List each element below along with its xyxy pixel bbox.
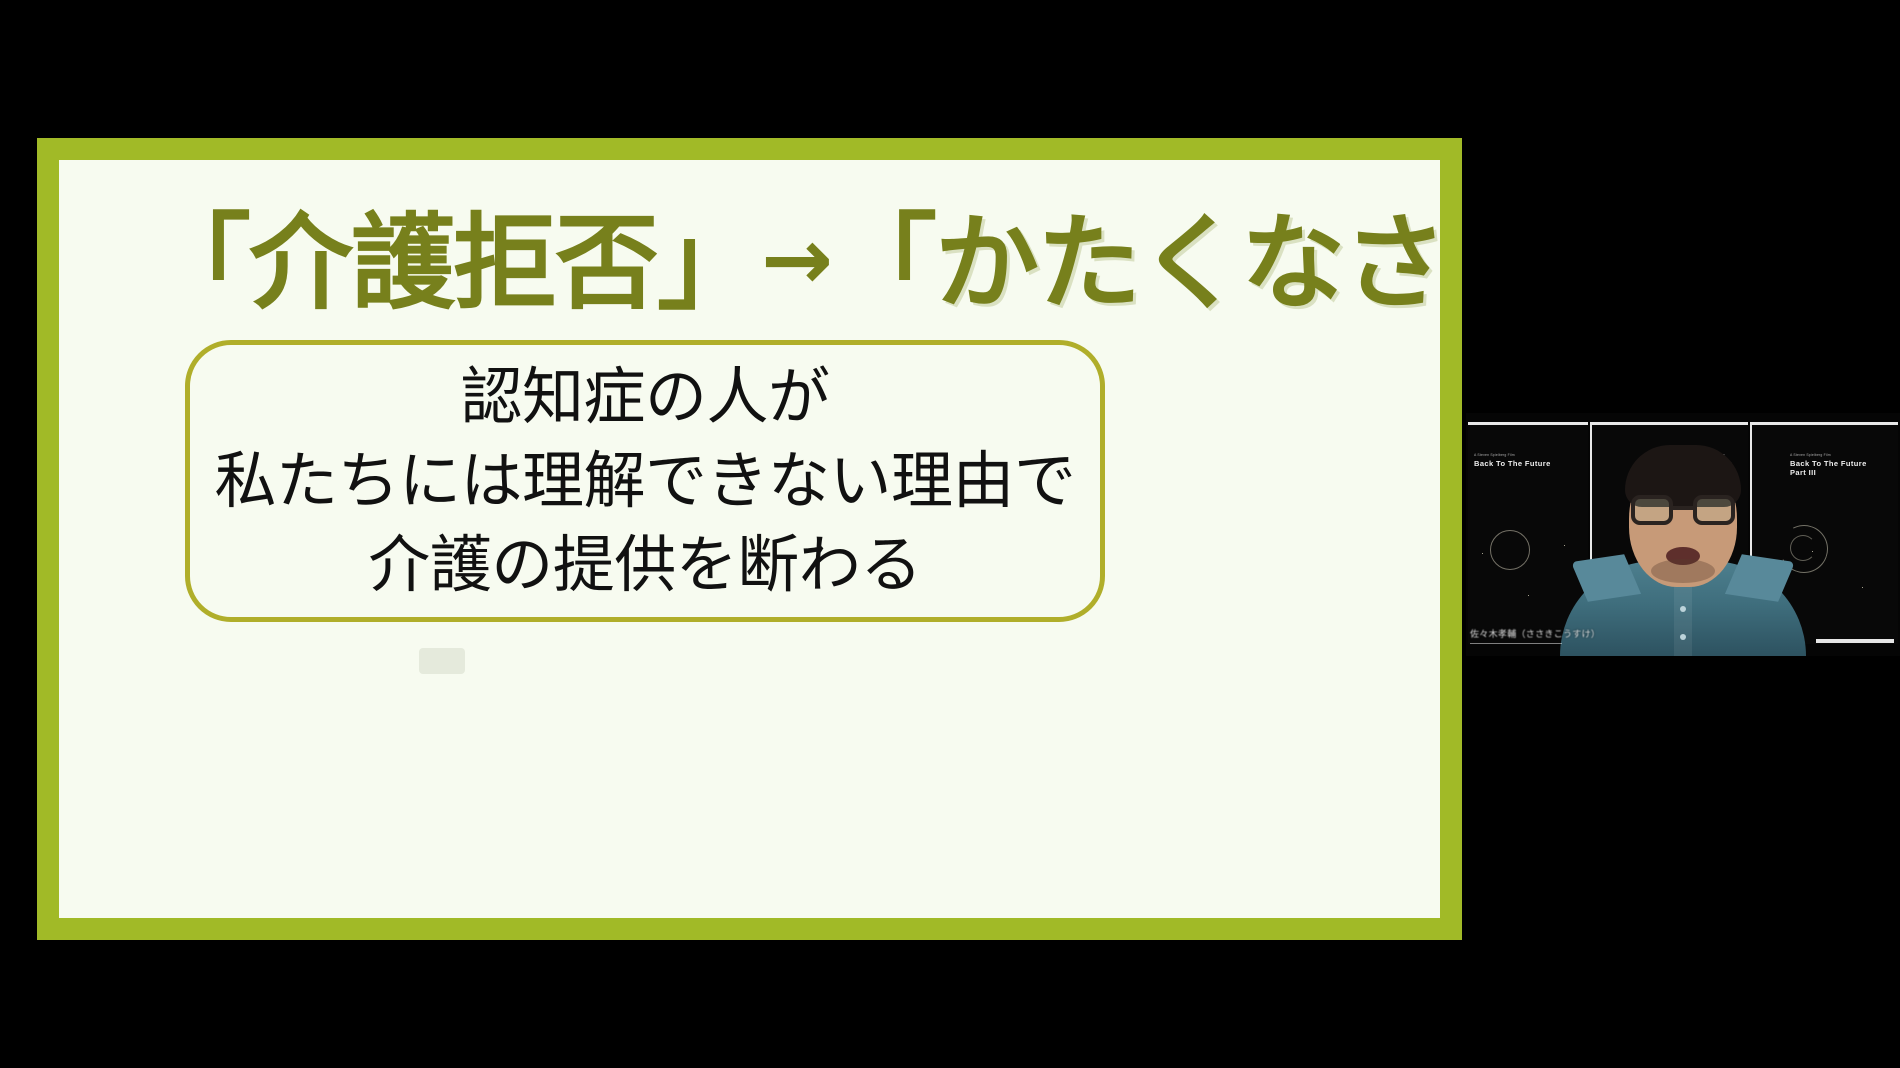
definition-line-2: 私たちには理解できない理由で xyxy=(214,440,1075,522)
title-open-quote: 「 xyxy=(147,202,249,324)
screen-share-viewport: 「介護拒否」→「かたくなさ」 認知症の人が 私たちには理解できない理由で 介護の… xyxy=(0,0,1900,1068)
slide-compression-artifact xyxy=(419,648,465,674)
eyeglasses-icon xyxy=(1631,495,1735,525)
presentation-slide: 「介護拒否」→「かたくなさ」 認知症の人が 私たちには理解できない理由で 介護の… xyxy=(37,138,1462,940)
title-close-quote: 」 xyxy=(657,202,759,324)
title-term-after: かたくなさ xyxy=(935,202,1440,324)
definition-line-3: 介護の提供を断わる xyxy=(368,524,922,606)
title-term-before: 介護拒否 xyxy=(249,202,657,324)
speaker-name-label: 佐々木孝輔（ささきこうすけ） xyxy=(1470,627,1600,640)
definition-line-1: 認知症の人が xyxy=(460,356,829,438)
eyeglass-bridge xyxy=(1673,506,1693,510)
shirt-button xyxy=(1680,634,1686,640)
slide-title: 「介護拒否」→「かたくなさ」 xyxy=(147,202,1440,325)
definition-text: 認知症の人が 私たちには理解できない理由で 介護の提供を断わる xyxy=(190,345,1100,617)
definition-callout-box: 認知症の人が 私たちには理解できない理由で 介護の提供を断わる xyxy=(185,340,1105,622)
presenter-figure xyxy=(1466,413,1900,656)
presenter-chin-shadow xyxy=(1651,559,1715,583)
eyeglass-lens-left xyxy=(1631,495,1673,525)
video-progress-bar[interactable] xyxy=(1816,639,1894,643)
shirt-button xyxy=(1680,606,1686,612)
shirt-collar-right xyxy=(1725,554,1795,601)
speaker-video-tile[interactable]: A Steven Spielberg Film Back To The Futu… xyxy=(1466,413,1900,656)
shirt-placket xyxy=(1674,578,1692,656)
arrow-right-icon: → xyxy=(759,210,833,310)
speaker-name-underline xyxy=(1470,643,1562,644)
title-open-quote-2: 「 xyxy=(833,202,935,324)
eyeglass-lens-right xyxy=(1693,495,1735,525)
slide-content-area: 「介護拒否」→「かたくなさ」 認知症の人が 私たちには理解できない理由で 介護の… xyxy=(59,160,1440,918)
